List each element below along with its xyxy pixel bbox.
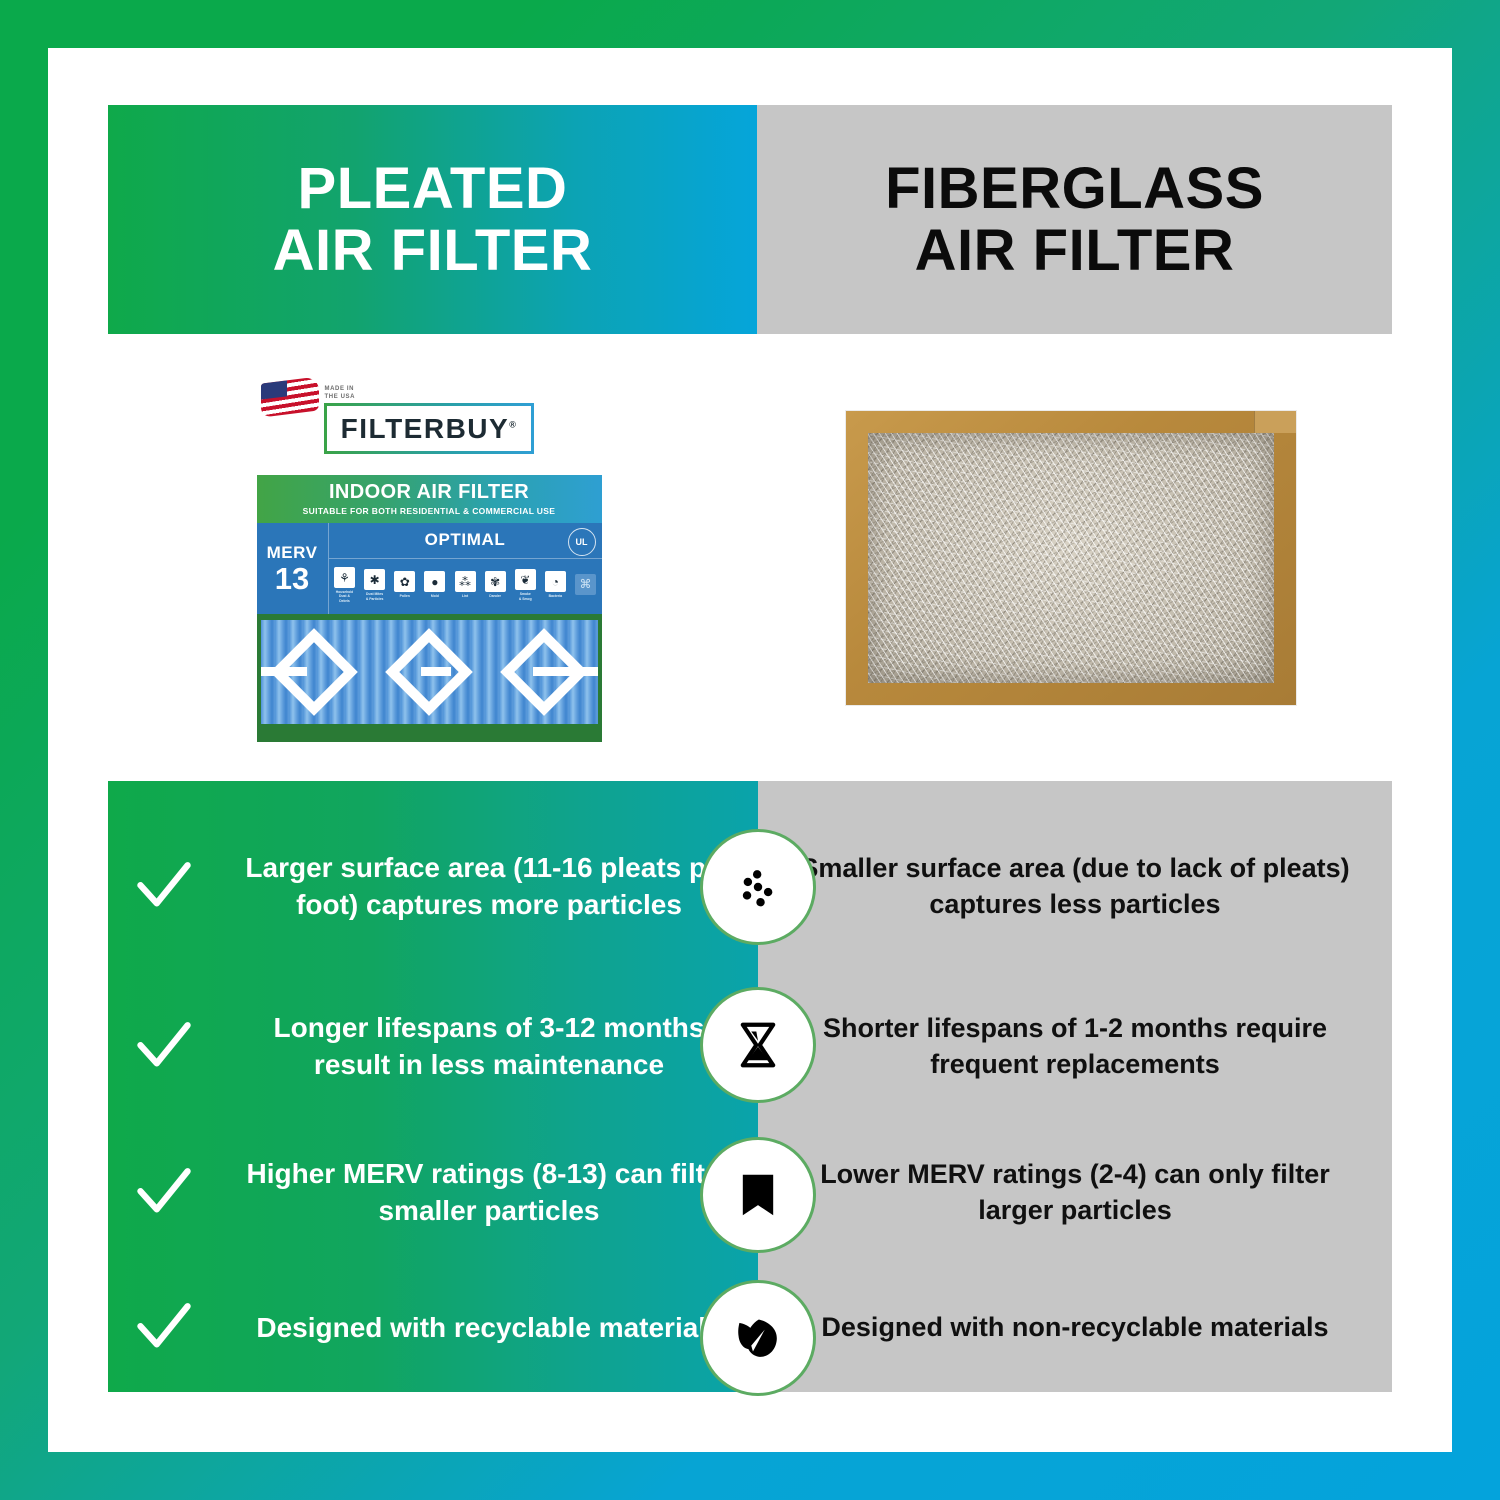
box-feature-icon: ❦ Smoke & Smog	[514, 569, 536, 601]
pollen-label: Pollen	[394, 594, 416, 598]
filterbuy-logo-text: FILTERBUY	[341, 413, 510, 444]
fiberglass-mesh	[868, 433, 1274, 683]
dander-label: Dander	[484, 594, 506, 598]
ul-certification-icon: UL	[568, 528, 596, 556]
box-feature-icon: ✿ Pollen	[394, 571, 416, 598]
merv-value: 13	[257, 563, 328, 594]
box-feature-icon: ● Mold	[424, 571, 446, 598]
lint-label: Lint	[454, 594, 476, 598]
box-feature-icon: ◔ Bacteria	[544, 571, 566, 598]
bacteria-icon: ◔	[545, 571, 566, 592]
box-feature-icon: ⁂ Lint	[454, 571, 476, 598]
check-mark-icon	[108, 858, 220, 916]
box-pleat-artwork	[257, 614, 602, 742]
box-tier-label: OPTIMAL	[329, 523, 602, 559]
infographic-root: PLEATED AIR FILTER FIBERGLASS AIR FILTER…	[0, 0, 1500, 1500]
box-feature-icon: ⌘	[575, 574, 597, 597]
pleated-benefit-text: Designed with recyclable materials	[220, 1310, 758, 1347]
header-fiberglass-title: FIBERGLASS AIR FILTER	[885, 158, 1264, 281]
fiberglass-filter-image	[846, 411, 1296, 705]
made-in-usa-label: MADE IN THE USA	[325, 385, 356, 401]
smoke-smog-label: Smoke & Smog	[514, 592, 536, 601]
comparison-panel: Larger surface area (11-16 pleats per fo…	[108, 781, 1392, 1392]
particles-icon	[709, 838, 807, 936]
pleat-media	[261, 620, 598, 724]
check-mark-icon	[108, 1299, 220, 1357]
hourglass-icon	[709, 996, 807, 1094]
pleat-diamond	[385, 628, 473, 716]
fiberglass-drawback-text: Shorter lifespans of 1-2 months require …	[758, 1011, 1392, 1082]
box-tier-block: OPTIMAL ⚘ Household Dust & Debris ✱ Dust…	[329, 523, 602, 614]
merv-label: MERV	[257, 543, 328, 563]
fiberglass-product-cell	[750, 334, 1392, 781]
box-top-section: MADE IN THE USA FILTERBUY®	[257, 374, 602, 475]
filterbuy-box-image: MADE IN THE USA FILTERBUY® INDOOR AIR FI…	[257, 374, 602, 742]
pleated-benefit-text: Higher MERV ratings (8-13) can filter sm…	[220, 1156, 758, 1230]
disabled-feature-icon: ⌘	[575, 574, 596, 595]
fiberglass-drawback-text: Smaller surface area (due to lack of ple…	[758, 851, 1392, 922]
pleated-benefit-text: Longer lifespans of 3-12 months result i…	[220, 1010, 758, 1084]
box-feature-icon: ⚘ Household Dust & Debris	[334, 567, 356, 603]
dust-mites-icon: ✱	[364, 569, 385, 590]
mold-icon: ●	[424, 571, 445, 592]
product-image-row: MADE IN THE USA FILTERBUY® INDOOR AIR FI…	[108, 334, 1392, 781]
header-pleated: PLEATED AIR FILTER	[108, 105, 757, 334]
fiberglass-frame-corner	[1254, 411, 1296, 433]
household-dust-label: Household Dust & Debris	[334, 590, 356, 603]
header-band: PLEATED AIR FILTER FIBERGLASS AIR FILTER	[108, 105, 1392, 334]
box-indoor-band: INDOOR AIR FILTER SUITABLE FOR BOTH RESI…	[257, 475, 602, 523]
check-mark-icon	[108, 1018, 220, 1076]
dust-mites-label: Dust Mites & Particles	[364, 592, 386, 601]
smoke-smog-icon: ❦	[515, 569, 536, 590]
box-spec-section: MERV 13 OPTIMAL ⚘ Household Dust & Debri…	[257, 523, 602, 614]
header-fiberglass: FIBERGLASS AIR FILTER	[757, 105, 1392, 334]
fiberglass-drawback-text: Lower MERV ratings (2-4) can only filter…	[758, 1157, 1392, 1228]
box-band-subtitle: SUITABLE FOR BOTH RESIDENTIAL & COMMERCI…	[257, 506, 602, 516]
infographic-canvas: PLEATED AIR FILTER FIBERGLASS AIR FILTER…	[48, 48, 1452, 1452]
check-mark-icon	[108, 1164, 220, 1222]
leaf-icon	[709, 1289, 807, 1387]
filterbuy-logo: FILTERBUY®	[324, 403, 535, 454]
pleated-product-cell: MADE IN THE USA FILTERBUY® INDOOR AIR FI…	[108, 334, 750, 781]
usa-flag-icon	[261, 376, 319, 417]
bookmark-icon	[709, 1146, 807, 1244]
mold-label: Mold	[424, 594, 446, 598]
bacteria-label: Bacteria	[544, 594, 566, 598]
header-pleated-title: PLEATED AIR FILTER	[273, 158, 593, 281]
box-merv-block: MERV 13	[257, 523, 329, 614]
comparison-rows: Larger surface area (11-16 pleats per fo…	[108, 781, 1392, 1392]
pleat-diamond	[270, 628, 358, 716]
box-feature-icon: ✱ Dust Mites & Particles	[364, 569, 386, 601]
pleat-diamond	[500, 628, 588, 716]
registered-mark: ®	[509, 419, 517, 429]
box-feature-icon: ✾ Dander	[484, 571, 506, 598]
box-feature-icon-row: ⚘ Household Dust & Debris ✱ Dust Mites &…	[329, 559, 602, 614]
box-band-title: INDOOR AIR FILTER	[257, 481, 602, 504]
fiberglass-drawback-text: Designed with non-recyclable materials	[758, 1310, 1392, 1346]
dander-icon: ✾	[485, 571, 506, 592]
pollen-icon: ✿	[394, 571, 415, 592]
household-dust-icon: ⚘	[334, 567, 355, 588]
lint-icon: ⁂	[455, 571, 476, 592]
pleated-benefit-text: Larger surface area (11-16 pleats per fo…	[220, 850, 758, 924]
